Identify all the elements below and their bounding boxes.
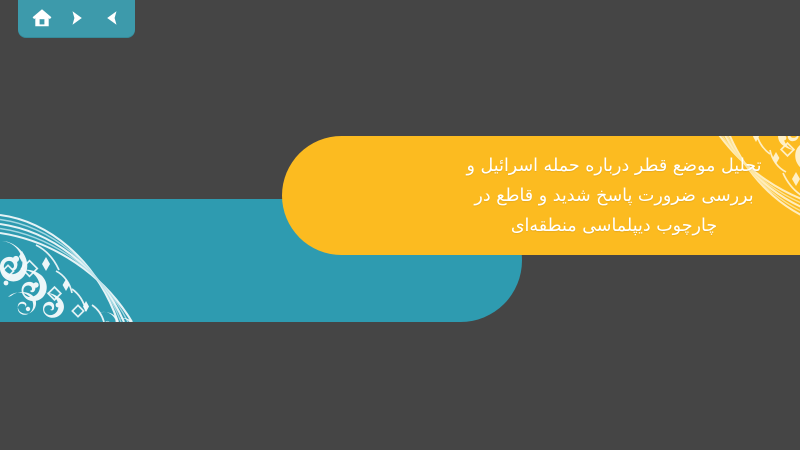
home-icon: [31, 7, 53, 29]
triangle-right-icon: [67, 8, 87, 28]
slide-canvas: تحلیل موضع قطر درباره حمله اسرائیل و برر…: [0, 0, 800, 450]
arabesque-ornament-teal: [0, 199, 175, 322]
title-banner: تحلیل موضع قطر درباره حمله اسرائیل و برر…: [282, 136, 800, 255]
forward-button[interactable]: [62, 3, 92, 33]
back-button[interactable]: [97, 3, 127, 33]
home-button[interactable]: [27, 3, 57, 33]
slide-title: تحلیل موضع قطر درباره حمله اسرائیل و برر…: [404, 151, 800, 241]
triangle-left-icon: [102, 8, 122, 28]
navigation-bar: [18, 0, 135, 38]
